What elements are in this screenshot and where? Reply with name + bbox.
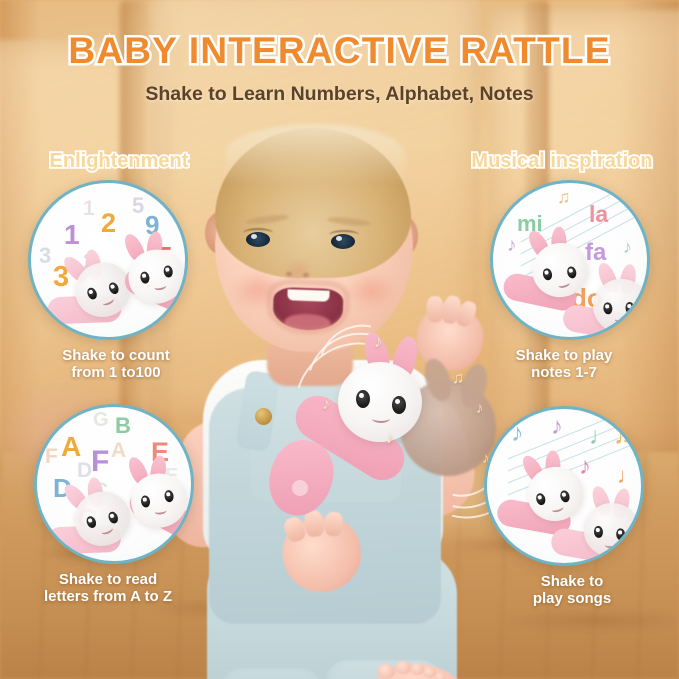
rattle-toy: ♪♫♪♪♪♪ bbox=[270, 330, 500, 520]
baby-eye-right bbox=[331, 234, 355, 249]
baby-nostril-left bbox=[286, 272, 292, 276]
music-note-icon: ♫ bbox=[452, 370, 464, 388]
floating-glyph: 5 bbox=[132, 193, 144, 219]
music-note-icon: ♪ bbox=[322, 396, 330, 414]
section-heading-enlightenment: Enlightenment bbox=[28, 150, 210, 173]
floating-glyph: G bbox=[93, 409, 109, 432]
floating-glyph: B bbox=[115, 413, 131, 439]
music-note-icon: ♪ bbox=[507, 235, 517, 257]
baby-cheek-right bbox=[345, 272, 397, 310]
callout-caption-letters: Shake to read letters from A to Z bbox=[14, 571, 202, 606]
header-block: BABY INTERACTIVE RATTLE Shake to Learn N… bbox=[0, 30, 679, 106]
callout-numbers[interactable]: Enlightenment 152915323 Shake to count f… bbox=[22, 150, 210, 382]
page-title: BABY INTERACTIVE RATTLE bbox=[0, 30, 679, 72]
floating-glyph: 2 bbox=[101, 208, 116, 239]
rattle-head bbox=[338, 362, 422, 442]
music-note-icon: ♪ bbox=[511, 419, 524, 448]
callout-songs[interactable]: ♪♪♩♫♪♩ Shake to play songs bbox=[478, 406, 666, 608]
rattle-eye-right bbox=[392, 396, 406, 414]
baby-nostril-right bbox=[303, 273, 309, 277]
floating-glyph: 1 bbox=[64, 219, 80, 251]
baby-eye-left bbox=[246, 232, 270, 247]
floating-glyph: F bbox=[91, 445, 109, 479]
floating-glyph: 3 bbox=[39, 243, 51, 269]
baby-hair-highlight bbox=[225, 124, 405, 184]
callout-caption-notes: Shake to play notes 1-7 bbox=[470, 347, 658, 382]
bubble-songs[interactable]: ♪♪♩♫♪♩ bbox=[484, 406, 644, 566]
baby-nose bbox=[283, 258, 313, 280]
rattle-eye-left bbox=[356, 390, 370, 408]
rattle-button bbox=[292, 480, 308, 496]
music-note-icon: ♪ bbox=[374, 332, 383, 352]
floating-glyph: F bbox=[45, 445, 58, 469]
callout-letters[interactable]: BGAFFAEDEDCC Shake to read letters from … bbox=[14, 404, 202, 606]
callout-caption-songs: Shake to play songs bbox=[478, 573, 666, 608]
music-note-icon: ♩ bbox=[589, 423, 613, 451]
music-note-icon: ♪ bbox=[579, 453, 591, 481]
callout-notes[interactable]: Musical inspiration milafaredo ♪♪♫ Shake… bbox=[470, 150, 658, 382]
bubble-numbers[interactable]: 152915323 bbox=[28, 180, 188, 340]
floating-glyph: 1 bbox=[83, 197, 95, 221]
floating-glyph: la bbox=[589, 201, 608, 228]
bubble-notes[interactable]: milafaredo ♪♪♫ bbox=[490, 180, 650, 340]
music-note-icon: ♩ bbox=[617, 463, 639, 489]
music-note-icon: ♫ bbox=[557, 187, 571, 208]
bubble-letters[interactable]: BGAFFAEDEDCC bbox=[34, 404, 194, 564]
page-subtitle: Shake to Learn Numbers, Alphabet, Notes bbox=[0, 83, 679, 106]
section-heading-musical: Musical inspiration bbox=[466, 150, 658, 173]
rattle-smile bbox=[372, 414, 390, 423]
music-note-icon: ♪ bbox=[623, 237, 632, 258]
music-note-icon: ♫ bbox=[613, 419, 633, 450]
baby-pant-cuff-left bbox=[217, 668, 325, 679]
music-note-icon: ♪ bbox=[551, 413, 563, 441]
music-note-icon: ♪ bbox=[386, 430, 394, 448]
callout-caption-numbers: Shake to count from 1 to100 bbox=[22, 347, 210, 382]
floating-glyph: A bbox=[111, 439, 126, 463]
